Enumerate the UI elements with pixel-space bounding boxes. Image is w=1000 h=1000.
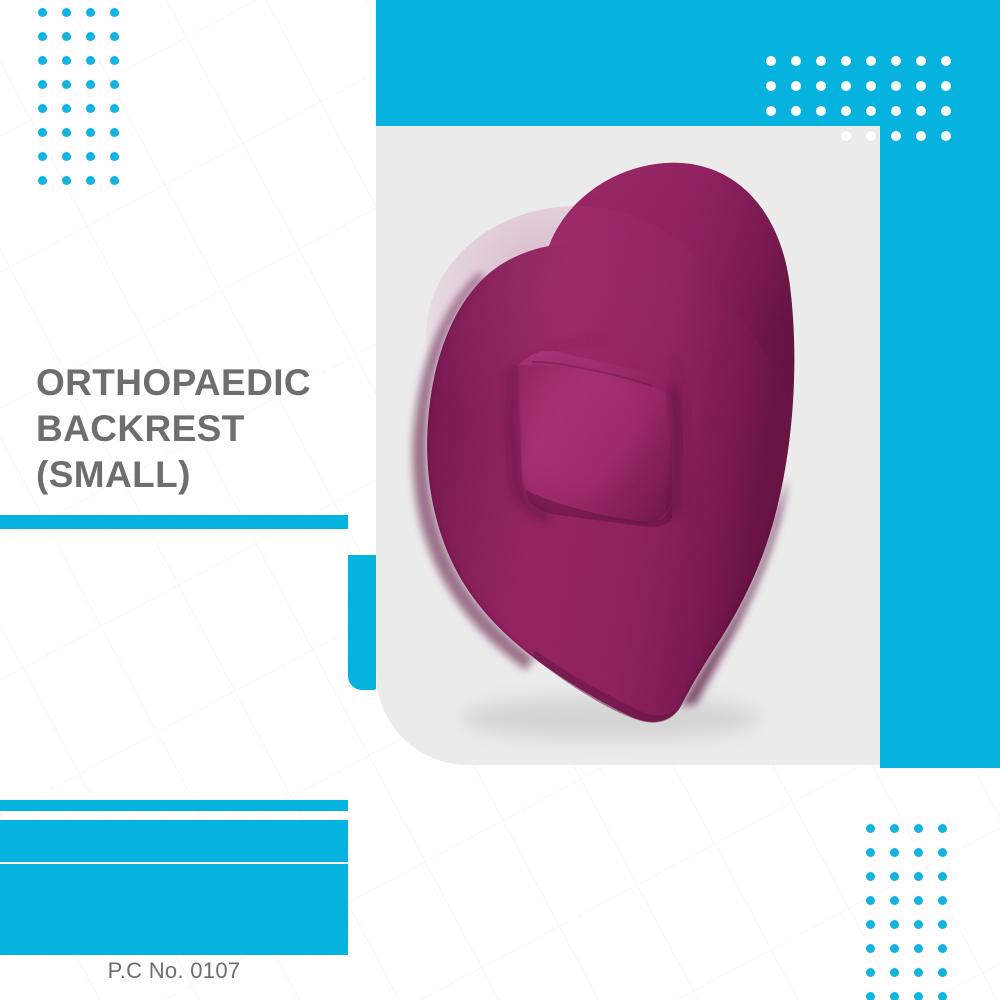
decor-dot: [866, 56, 876, 66]
decor-dot: [62, 152, 71, 161]
decor-dot: [891, 56, 901, 66]
title-line-1: ORTHOPAEDIC: [36, 360, 366, 406]
decor-dot: [866, 968, 875, 977]
decor-dot: [110, 80, 119, 89]
decor-dot: [38, 56, 47, 65]
decor-dot: [766, 131, 776, 141]
decor-dot: [914, 968, 923, 977]
decor-dot: [86, 32, 95, 41]
decor-dot: [62, 128, 71, 137]
decor-dot: [938, 872, 947, 881]
decor-dot: [110, 152, 119, 161]
decor-dot: [914, 992, 923, 1000]
decor-dot: [38, 128, 47, 137]
decor-dot: [938, 968, 947, 977]
dot-grid-top-right: [766, 56, 966, 156]
decor-dot: [62, 80, 71, 89]
decor-dot: [866, 848, 875, 857]
decor-dot: [86, 152, 95, 161]
decor-dot: [890, 968, 899, 977]
accent-vertical-tab: [348, 555, 376, 690]
decor-dot: [914, 848, 923, 857]
decor-dot: [86, 80, 95, 89]
decor-dot: [841, 131, 851, 141]
title-line-3: (SMALL): [36, 452, 366, 498]
decor-dot: [890, 944, 899, 953]
accent-block-lower: [0, 864, 348, 955]
dot-grid-top-left: [38, 8, 134, 200]
decor-dot: [890, 920, 899, 929]
dot-grid-bottom-right: [866, 824, 962, 1000]
decor-dot: [791, 106, 801, 116]
decor-dot: [816, 81, 826, 91]
decor-dot: [38, 8, 47, 17]
decor-dot: [62, 56, 71, 65]
decor-dot: [938, 824, 947, 833]
decor-dot: [86, 104, 95, 113]
decor-dot: [891, 81, 901, 91]
decor-dot: [914, 920, 923, 929]
decor-dot: [866, 920, 875, 929]
decor-dot: [766, 56, 776, 66]
page-title: ORTHOPAEDIC BACKREST (SMALL): [36, 360, 366, 498]
decor-dot: [38, 80, 47, 89]
decor-dot: [938, 992, 947, 1000]
cyan-right-panel: [880, 126, 1000, 768]
decor-dot: [38, 32, 47, 41]
decor-dot: [941, 106, 951, 116]
decor-dot: [866, 992, 875, 1000]
backrest-illustration: [376, 126, 880, 765]
accent-block-upper: [0, 820, 348, 862]
decor-dot: [938, 848, 947, 857]
decor-dot: [890, 848, 899, 857]
decor-dot: [110, 104, 119, 113]
product-code-label: P.C No. 0107: [0, 958, 348, 984]
decor-dot: [891, 131, 901, 141]
decor-dot: [916, 131, 926, 141]
decor-dot: [62, 32, 71, 41]
decor-dot: [62, 8, 71, 17]
decor-dot: [916, 56, 926, 66]
decor-dot: [110, 32, 119, 41]
decor-dot: [110, 128, 119, 137]
accent-bar-under-title: [0, 515, 348, 529]
decor-dot: [890, 824, 899, 833]
decor-dot: [38, 152, 47, 161]
decor-dot: [110, 176, 119, 185]
decor-dot: [938, 896, 947, 905]
product-card: ORTHOPAEDIC BACKREST (SMALL) P.C No. 010…: [0, 0, 1000, 1000]
decor-dot: [86, 56, 95, 65]
decor-dot: [841, 81, 851, 91]
decor-dot: [841, 56, 851, 66]
decor-dot: [891, 106, 901, 116]
decor-dot: [791, 81, 801, 91]
decor-dot: [86, 176, 95, 185]
decor-dot: [866, 824, 875, 833]
decor-dot: [816, 106, 826, 116]
decor-dot: [816, 131, 826, 141]
decor-dot: [914, 896, 923, 905]
title-line-2: BACKREST: [36, 406, 366, 452]
decor-dot: [110, 56, 119, 65]
decor-dot: [766, 106, 776, 116]
decor-dot: [841, 106, 851, 116]
decor-dot: [938, 944, 947, 953]
decor-dot: [916, 106, 926, 116]
decor-dot: [914, 824, 923, 833]
decor-dot: [62, 104, 71, 113]
decor-dot: [38, 104, 47, 113]
decor-dot: [866, 131, 876, 141]
decor-dot: [86, 8, 95, 17]
product-image: [376, 126, 880, 765]
decor-dot: [941, 56, 951, 66]
decor-dot: [866, 81, 876, 91]
decor-dot: [941, 81, 951, 91]
accent-thin-bar: [0, 800, 348, 811]
decor-dot: [914, 872, 923, 881]
decor-dot: [890, 872, 899, 881]
decor-dot: [791, 56, 801, 66]
decor-dot: [86, 128, 95, 137]
decor-dot: [866, 872, 875, 881]
decor-dot: [866, 106, 876, 116]
decor-dot: [866, 944, 875, 953]
decor-dot: [938, 920, 947, 929]
decor-dot: [914, 944, 923, 953]
decor-dot: [791, 131, 801, 141]
decor-dot: [916, 81, 926, 91]
decor-dot: [890, 896, 899, 905]
decor-dot: [38, 176, 47, 185]
decor-dot: [110, 8, 119, 17]
decor-dot: [866, 896, 875, 905]
decor-dot: [816, 56, 826, 66]
decor-dot: [890, 992, 899, 1000]
decor-dot: [62, 176, 71, 185]
decor-dot: [941, 131, 951, 141]
decor-dot: [766, 81, 776, 91]
